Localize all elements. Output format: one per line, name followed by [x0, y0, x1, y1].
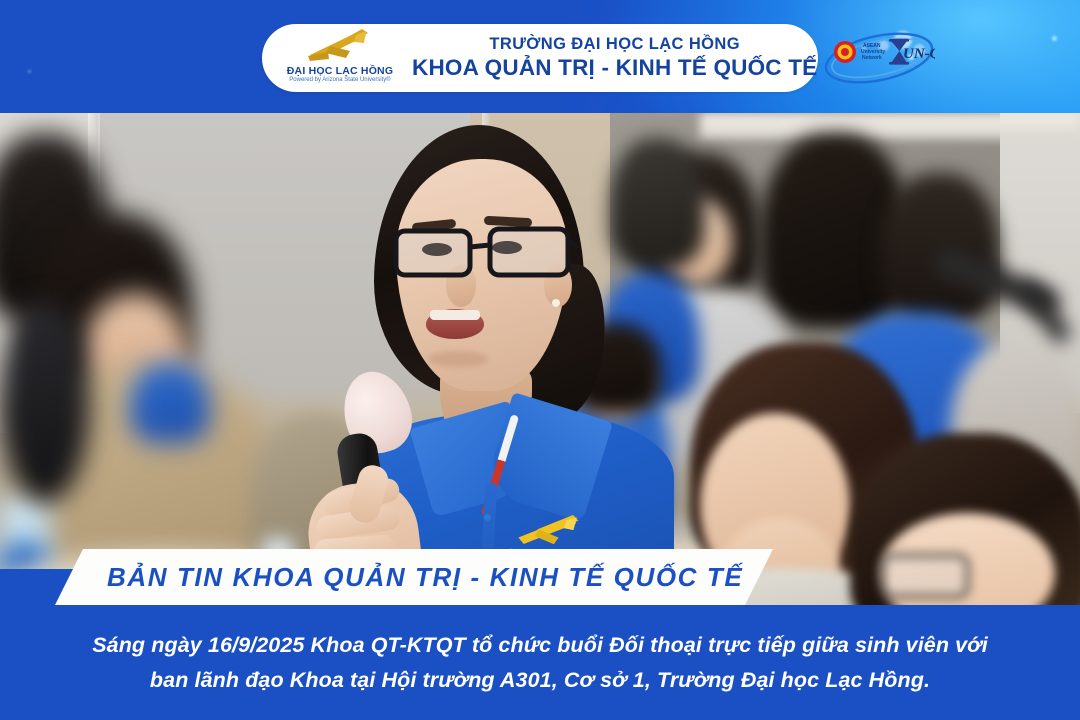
speaker-eyeglasses-icon — [392, 221, 578, 283]
newsletter-title-banner: BẢN TIN KHOA QUẢN TRỊ - KINH TẾ QUỐC TẾ — [0, 549, 1080, 611]
lhu-logo-tagline: Powered by Arizona State University® — [270, 77, 410, 83]
photo-student-blue-collar — [130, 363, 210, 443]
lac-hong-university-logo: ĐẠI HỌC LẠC HỒNG Powered by Arizona Stat… — [270, 27, 410, 89]
poster-header: ĐẠI HỌC LẠC HỒNG Powered by Arizona Stat… — [0, 0, 1080, 114]
lhu-bird-logo-icon — [270, 27, 410, 67]
header-titles: TRƯỜNG ĐẠI HỌC LẠC HỒNG KHOA QUẢN TRỊ - … — [410, 35, 823, 81]
header-bokeh-dot — [1052, 36, 1057, 41]
caption-line-2: ban lãnh đạo Khoa tại Hội trường A301, C… — [150, 663, 930, 698]
caption-band: Sáng ngày 16/9/2025 Khoa QT-KTQT tổ chức… — [0, 605, 1080, 720]
event-photo: ĐẠI HỌC LẠC HỒNG KHOA QT-KTQT — [0, 113, 1080, 608]
photo-student-dark-left — [0, 303, 90, 503]
photo-main-speaker: ĐẠI HỌC LẠC HỒNG KHOA QT-KTQT — [300, 113, 770, 608]
header-bokeh-dot — [28, 70, 31, 73]
faculty-name: KHOA QUẢN TRỊ - KINH TẾ QUỐC TẾ — [412, 55, 817, 81]
photo-audience-person — [880, 173, 1000, 323]
aun-qa-badge-icon: ASEAN University Network UN-QA — [823, 30, 935, 86]
caption-line-1: Sáng ngày 16/9/2025 Khoa QT-KTQT tổ chức… — [92, 628, 988, 663]
aun-qa-label: UN-QA — [903, 46, 935, 62]
speaker-shirt-button — [483, 513, 492, 522]
speaker-teeth — [430, 310, 480, 320]
lhu-logo-name: ĐẠI HỌC LẠC HỒNG — [270, 65, 410, 77]
banner-white-parallelogram: BẢN TIN KHOA QUẢN TRỊ - KINH TẾ QUỐC TẾ — [55, 549, 773, 605]
banner-title: BẢN TIN KHOA QUẢN TRỊ - KINH TẾ QUỐC TẾ — [107, 562, 743, 593]
aun-qa-accreditation-badge: ASEAN University Network UN-QA — [823, 30, 935, 86]
header-title-pill: ĐẠI HỌC LẠC HỒNG Powered by Arizona Stat… — [262, 24, 818, 92]
newsletter-poster: ĐẠI HỌC LẠC HỒNG Powered by Arizona Stat… — [0, 0, 1080, 720]
svg-text:Network: Network — [862, 55, 882, 61]
speaker-earring — [552, 299, 560, 307]
university-name: TRƯỜNG ĐẠI HỌC LẠC HỒNG — [412, 35, 817, 53]
speaker-chin-shadow — [428, 351, 488, 367]
